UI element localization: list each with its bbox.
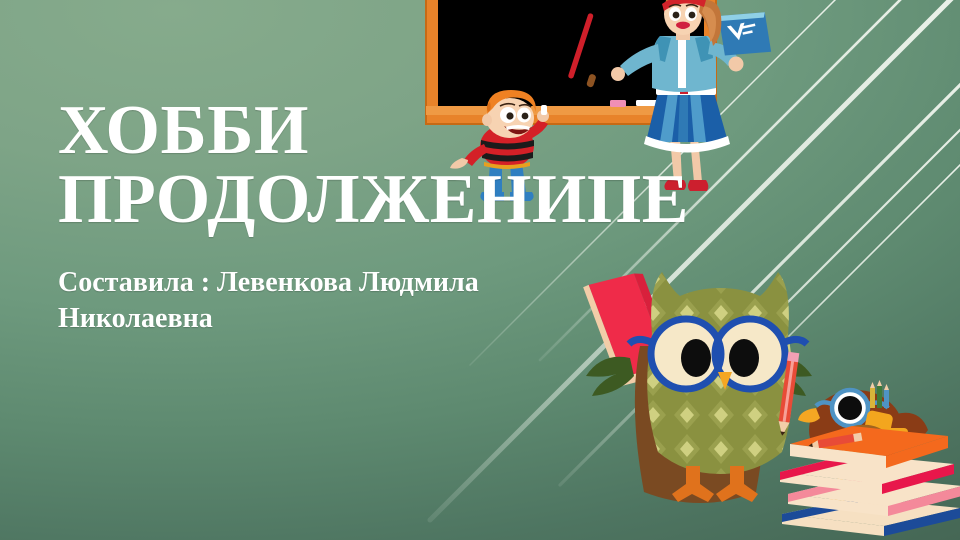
bird-beak-icon xyxy=(798,408,820,423)
slide-text-block: ХОББИ ПРОДОЛЖЕНИПЕ Составила : Левенкова… xyxy=(58,96,788,337)
book-stack-illustration xyxy=(780,426,960,536)
hand-icon xyxy=(729,57,744,72)
page-title: ХОББИ ПРОДОЛЖЕНИПЕ xyxy=(58,96,788,235)
presentation-slide: ХОББИ ПРОДОЛЖЕНИПЕ Составила : Левенкова… xyxy=(0,0,960,540)
hand-icon xyxy=(611,67,625,81)
book-icon xyxy=(717,6,774,61)
slide-subtitle: Составила : Левенкова Людмила Николаевна xyxy=(58,265,488,338)
